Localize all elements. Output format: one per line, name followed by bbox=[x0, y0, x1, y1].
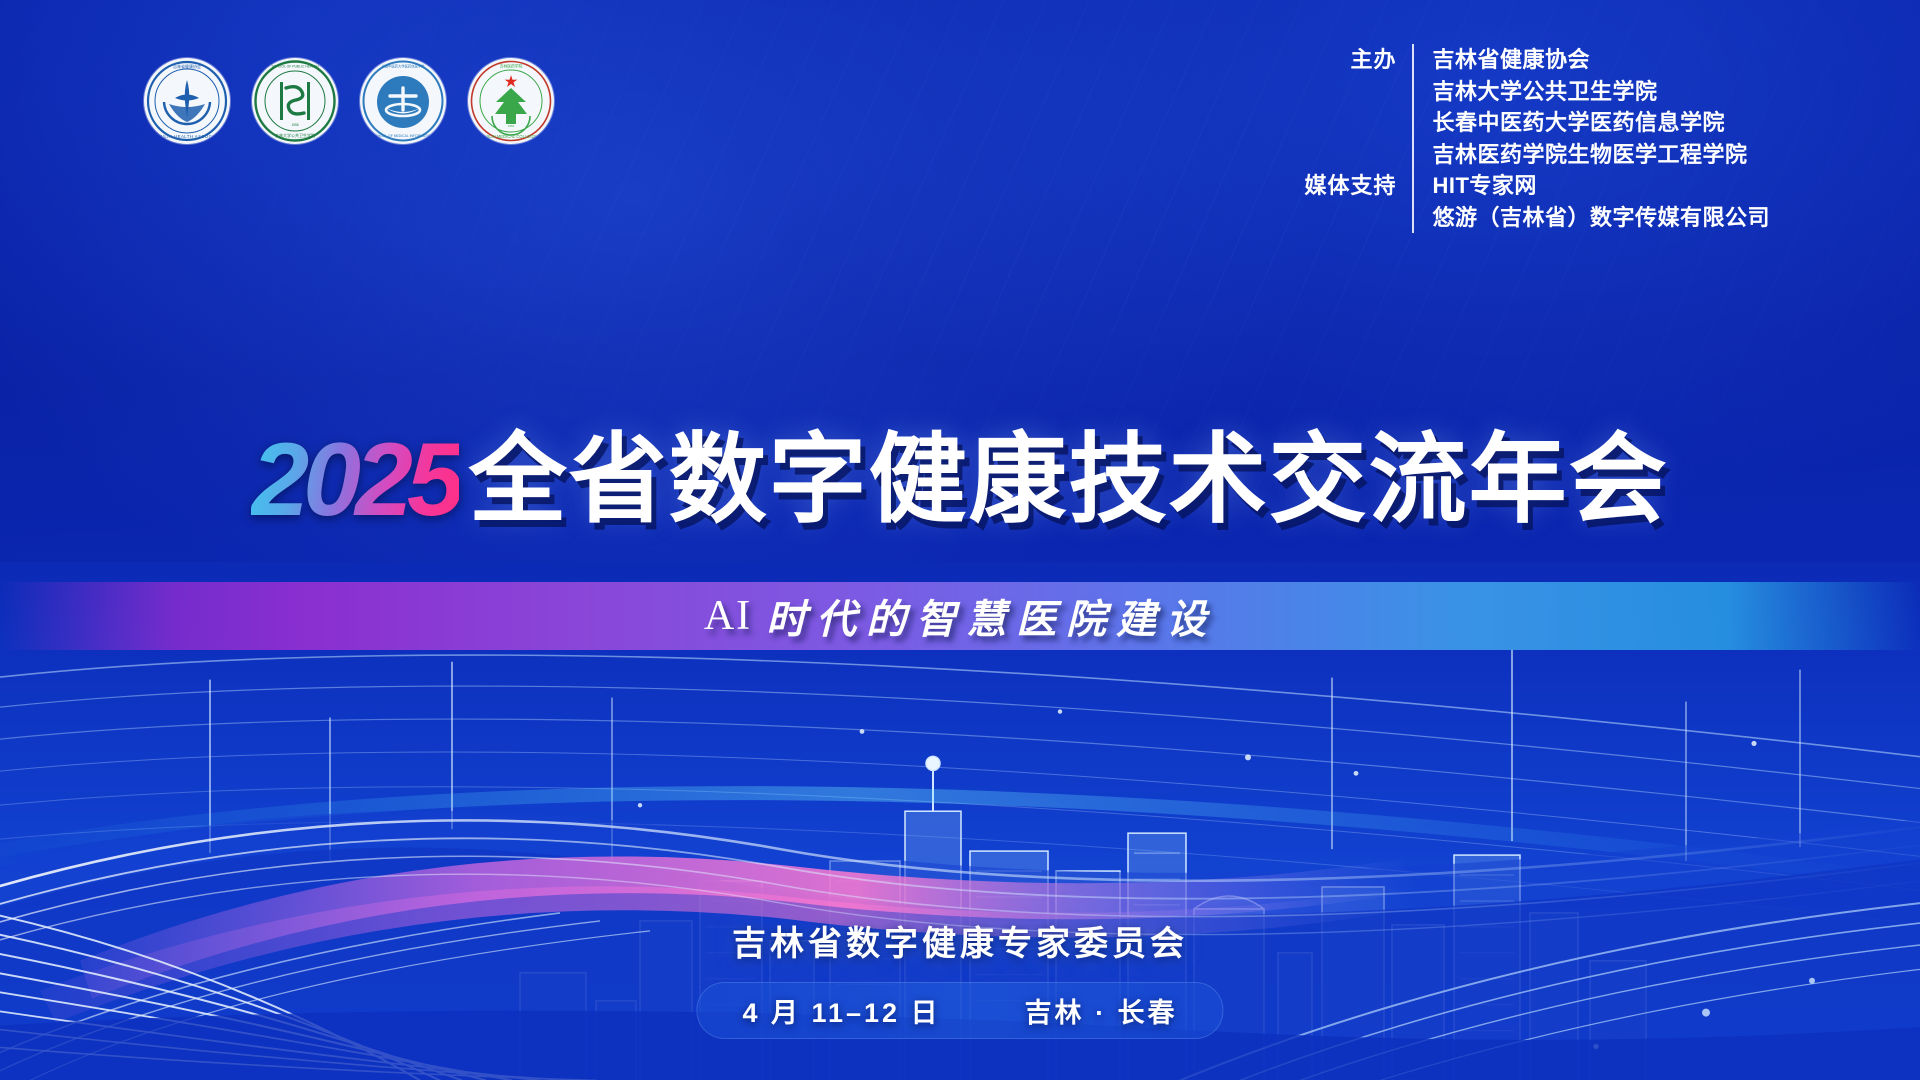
logo-jilin-health-association: 吉林省健康协会 JILIN HEALTH ASSOC. bbox=[144, 58, 230, 144]
event-date: 4 月 11–12 日 bbox=[742, 991, 940, 1030]
svg-text:长春中医药大学医药信息学院: 长春中医药大学医药信息学院 bbox=[382, 64, 426, 69]
logo-school-of-medical-information: 长春中医药大学医药信息学院 SCHOOL OF MEDICAL INFORMAT… bbox=[360, 58, 446, 144]
svg-text:1952: 1952 bbox=[508, 124, 515, 128]
organizer-item: 吉林大学公共卫生学院 bbox=[1432, 76, 1747, 108]
svg-text:JILIN HEALTH ASSOC.: JILIN HEALTH ASSOC. bbox=[160, 134, 214, 139]
date-location-bar: 4 月 11–12 日 吉林 · 长春 bbox=[696, 982, 1223, 1039]
logo-row: 吉林省健康协会 JILIN HEALTH ASSOC. SCHOOL OF PU… bbox=[144, 58, 554, 144]
organizer-label: 主办 bbox=[1284, 44, 1412, 76]
svg-text:吉林医药学院: 吉林医药学院 bbox=[500, 64, 523, 69]
sponsor-block: 主办 吉林省健康协会 吉林大学公共卫生学院 长春中医药大学医药信息学院 吉林医药… bbox=[1284, 44, 1770, 233]
event-location: 吉林 · 长春 bbox=[1025, 991, 1178, 1030]
logo-school-of-public-health-jilin-university: SCHOOL OF PUBLIC HEALTH 吉林大学公共卫生学院 1958 bbox=[252, 58, 338, 144]
svg-text:JILIN MEDICAL COLLEGE: JILIN MEDICAL COLLEGE bbox=[486, 134, 537, 139]
svg-text:吉林大学公共卫生学院: 吉林大学公共卫生学院 bbox=[275, 132, 315, 138]
committee-name: 吉林省数字健康专家委员会 bbox=[0, 916, 1920, 965]
logo-jilin-medical-college: 吉林医药学院 1952 JILIN MEDICAL COLLEGE bbox=[468, 58, 554, 144]
svg-text:1958: 1958 bbox=[291, 123, 298, 127]
title-block: 2025全省数字健康技术交流年会 bbox=[0, 428, 1920, 532]
media-group: 媒体支持 HIT专家网 悠游（吉林省）数字传媒有限公司 bbox=[1284, 170, 1770, 233]
subtitle: AI 时代的智慧医院建设 bbox=[0, 582, 1920, 650]
title-year: 2025 bbox=[251, 422, 458, 538]
media-list: HIT专家网 悠游（吉林省）数字传媒有限公司 bbox=[1412, 170, 1770, 233]
svg-text:SCHOOL OF PUBLIC HEALTH: SCHOOL OF PUBLIC HEALTH bbox=[271, 65, 319, 69]
media-label: 媒体支持 bbox=[1284, 170, 1412, 202]
svg-text:吉林省健康协会: 吉林省健康协会 bbox=[173, 63, 201, 69]
organizer-list: 吉林省健康协会 吉林大学公共卫生学院 长春中医药大学医药信息学院 吉林医药学院生… bbox=[1412, 44, 1747, 170]
subtitle-text: 时代的智慧医院建设 bbox=[766, 587, 1216, 645]
media-item: HIT专家网 bbox=[1432, 170, 1770, 202]
organizer-item: 吉林省健康协会 bbox=[1432, 44, 1747, 76]
conference-banner: 吉林省健康协会 JILIN HEALTH ASSOC. SCHOOL OF PU… bbox=[0, 0, 1920, 1080]
svg-text:SCHOOL OF MEDICAL INFORMATION: SCHOOL OF MEDICAL INFORMATION bbox=[373, 134, 434, 138]
organizer-group: 主办 吉林省健康协会 吉林大学公共卫生学院 长春中医药大学医药信息学院 吉林医药… bbox=[1284, 44, 1770, 170]
title-main: 全省数字健康技术交流年会 bbox=[469, 424, 1669, 534]
subtitle-prefix: AI bbox=[704, 592, 752, 640]
media-item: 悠游（吉林省）数字传媒有限公司 bbox=[1432, 202, 1770, 234]
organizer-item: 长春中医药大学医药信息学院 bbox=[1432, 107, 1747, 139]
organizer-item: 吉林医药学院生物医学工程学院 bbox=[1432, 139, 1747, 171]
